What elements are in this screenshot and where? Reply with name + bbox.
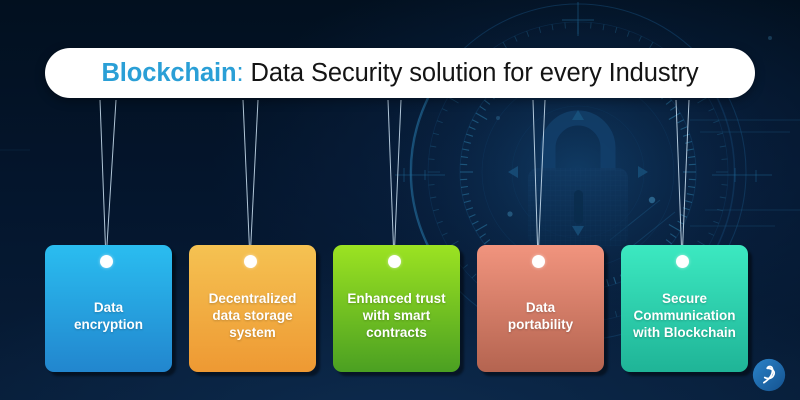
connector-dot-4 [532,255,545,268]
logo-circle [753,359,785,391]
title-highlight: Blockchain [101,59,236,87]
title-colon: : [237,59,244,87]
card-label: Data encryption [74,299,143,333]
title-pill: Blockchain: Data Security solution for e… [45,48,755,98]
card-label: Decentralized data storage system [209,290,297,341]
card-label: Enhanced trust with smart contracts [347,290,445,341]
brand-logo[interactable] [752,358,786,392]
connector-dot-1 [100,255,113,268]
card-label: Data portability [508,299,573,333]
page-title: Blockchain: Data Security solution for e… [101,59,698,88]
connector-dot-3 [388,255,401,268]
connector-dot-5 [676,255,689,268]
infographic-canvas: Blockchain: Data Security solution for e… [0,0,800,400]
card-label: Secure Communication with Blockchain [633,290,736,341]
connector-dot-2 [244,255,257,268]
title-rest: Data Security solution for every Industr… [244,59,699,87]
